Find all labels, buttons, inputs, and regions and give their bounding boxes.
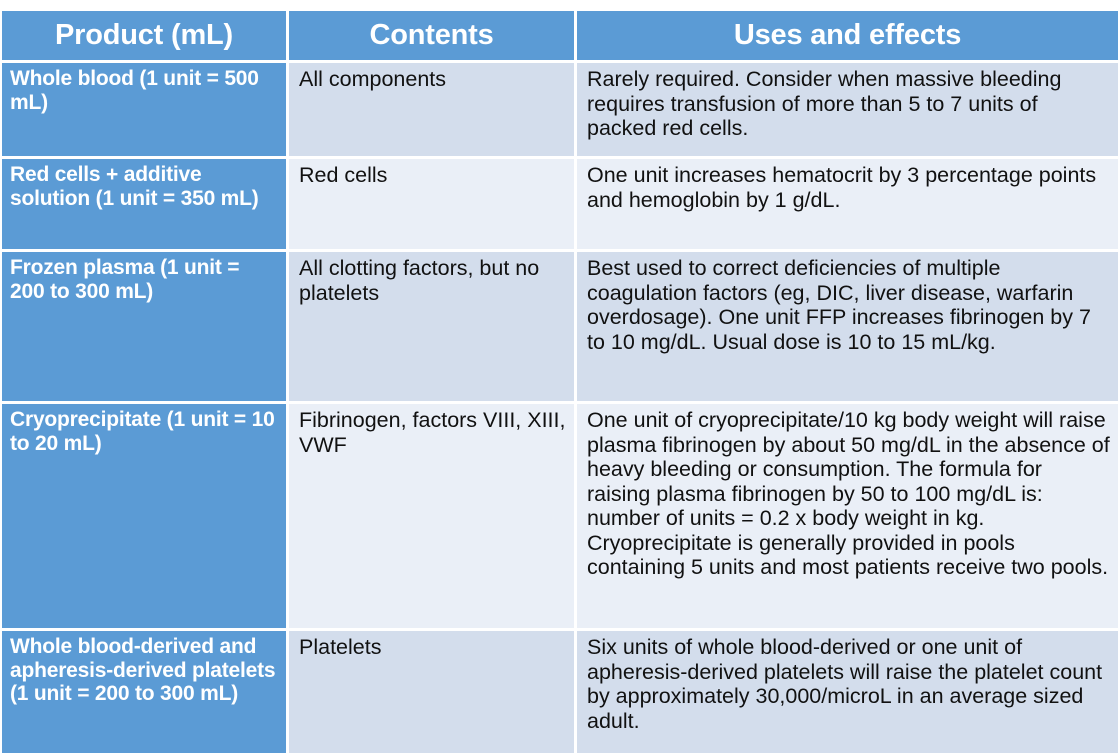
cell-product: Frozen plasma (1 unit = 200 to 300 mL): [2, 249, 289, 401]
blood-products-table: Product (mL) Contents Uses and effects W…: [2, 11, 1118, 753]
cell-uses-and-effects: One unit increases hematocrit by 3 perce…: [577, 156, 1118, 249]
cell-contents: Fibrinogen, factors VIII, XIII, VWF: [289, 401, 577, 628]
column-header-uses-and-effects: Uses and effects: [577, 11, 1118, 60]
blood-products-table-container: Product (mL) Contents Uses and effects W…: [2, 11, 1118, 753]
table-body: Whole blood (1 unit = 500 mL) All compon…: [2, 60, 1118, 753]
cell-contents: All components: [289, 60, 577, 156]
cell-contents: All clotting factors, but no platelets: [289, 249, 577, 401]
column-header-contents: Contents: [289, 11, 577, 60]
cell-product: Cryoprecipitate (1 unit = 10 to 20 mL): [2, 401, 289, 628]
table-row: Frozen plasma (1 unit = 200 to 300 mL) A…: [2, 249, 1118, 401]
table-header-row: Product (mL) Contents Uses and effects: [2, 11, 1118, 60]
column-header-product: Product (mL): [2, 11, 289, 60]
table-row: Red cells + additive solution (1 unit = …: [2, 156, 1118, 249]
cell-uses-and-effects: Six units of whole blood-derived or one …: [577, 628, 1118, 753]
cell-uses-and-effects: Rarely required. Consider when massive b…: [577, 60, 1118, 156]
cell-product: Whole blood (1 unit = 500 mL): [2, 60, 289, 156]
cell-product: Red cells + additive solution (1 unit = …: [2, 156, 289, 249]
table-row: Whole blood-derived and apheresis-derive…: [2, 628, 1118, 753]
cell-product: Whole blood-derived and apheresis-derive…: [2, 628, 289, 753]
table-row: Cryoprecipitate (1 unit = 10 to 20 mL) F…: [2, 401, 1118, 628]
cell-uses-and-effects: One unit of cryoprecipitate/10 kg body w…: [577, 401, 1118, 628]
cell-uses-and-effects: Best used to correct deficiencies of mul…: [577, 249, 1118, 401]
table-row: Whole blood (1 unit = 500 mL) All compon…: [2, 60, 1118, 156]
cell-contents: Platelets: [289, 628, 577, 753]
table-header: Product (mL) Contents Uses and effects: [2, 11, 1118, 60]
cell-contents: Red cells: [289, 156, 577, 249]
